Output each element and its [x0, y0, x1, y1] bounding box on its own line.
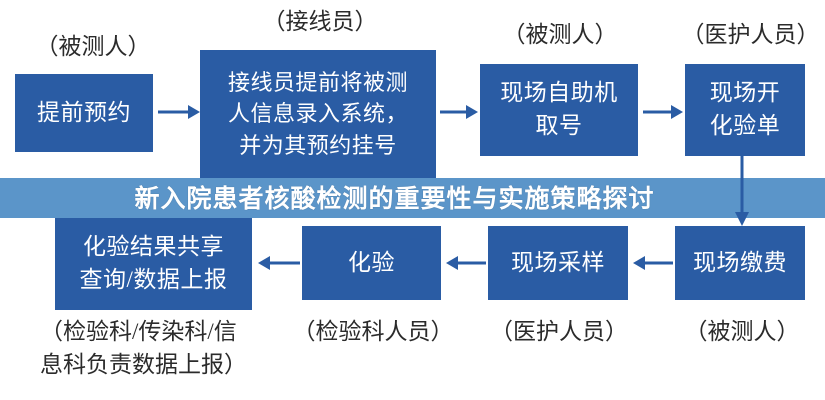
arrow-appointment-to-operator	[158, 104, 200, 120]
process-box-operator-entry-label: 接线员提前将被测 人信息录入系统， 并为其预约挂号	[228, 67, 408, 161]
flowchart-image: （被测人） （接线员） （被测人） （医护人员） 提前预约 接线员提前将被测 人…	[0, 0, 825, 400]
process-box-result-share-label: 化验结果共享 查询/数据上报	[80, 231, 228, 296]
caption-sampling: （医护人员）	[485, 315, 633, 348]
process-box-appointment-label: 提前预约	[37, 97, 131, 130]
process-box-onsite-sampling-label: 现场采样	[511, 247, 605, 280]
process-box-lab-test-label: 化验	[348, 247, 395, 280]
arrow-lab-order-to-payment	[733, 156, 751, 226]
caption-kiosk: （被测人）	[495, 18, 625, 51]
caption-lab-test: （检验科人员）	[288, 315, 458, 348]
process-box-issue-lab-order-label: 现场开 化验单	[710, 77, 781, 142]
process-box-result-share[interactable]: 化验结果共享 查询/数据上报	[55, 218, 252, 310]
process-box-onsite-sampling[interactable]: 现场采样	[488, 226, 628, 300]
caption-result-share: （检验科/传染科/信 息科负责数据上报）	[40, 315, 275, 382]
banner-title-text: 新入院患者核酸检测的重要性与实施策略探讨	[134, 186, 654, 211]
process-box-lab-test[interactable]: 化验	[302, 226, 441, 300]
process-box-onsite-payment[interactable]: 现场缴费	[675, 226, 805, 300]
process-box-kiosk-ticket[interactable]: 现场自助机 取号	[480, 64, 638, 156]
arrow-lab-test-to-result-share	[255, 255, 300, 271]
process-box-appointment[interactable]: 提前预约	[15, 74, 153, 152]
caption-operator: （接线员）	[255, 5, 385, 38]
process-box-issue-lab-order[interactable]: 现场开 化验单	[685, 64, 805, 156]
process-box-kiosk-ticket-label: 现场自助机 取号	[500, 77, 618, 142]
caption-lab-order: （医护人员）	[678, 18, 823, 51]
arrow-operator-to-kiosk	[440, 104, 478, 120]
arrow-payment-to-sampling	[631, 255, 673, 271]
process-box-operator-entry[interactable]: 接线员提前将被测 人信息录入系统， 并为其预约挂号	[200, 50, 436, 178]
arrow-sampling-to-lab-test	[444, 255, 486, 271]
arrow-kiosk-to-lab-order	[643, 104, 683, 120]
process-box-onsite-payment-label: 现场缴费	[693, 247, 787, 280]
caption-appointment: （被测人）	[28, 30, 158, 63]
caption-payment: （被测人）	[677, 315, 807, 348]
title-banner: 新入院患者核酸检测的重要性与实施策略探讨	[0, 178, 825, 218]
